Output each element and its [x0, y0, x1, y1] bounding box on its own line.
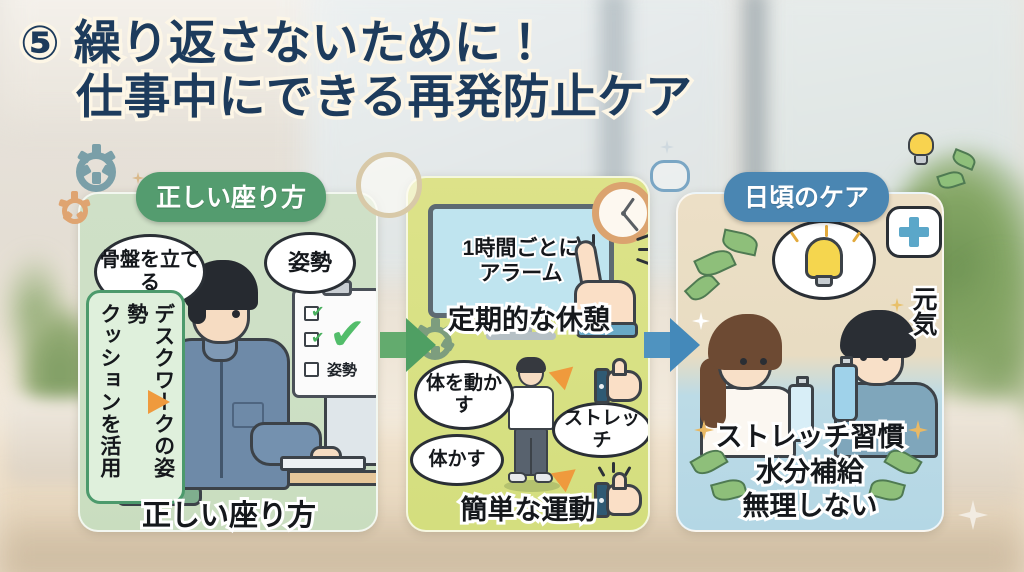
- alarm-text-line-2: アラーム: [479, 261, 562, 286]
- bottle-cap: [840, 356, 853, 366]
- speech-bubble-move-body-text: 体を動かす: [417, 373, 511, 417]
- cushion-pointer-arrow-icon: [148, 390, 170, 414]
- person-leg-split: [530, 438, 532, 476]
- infographic-canvas: ⑤ 繰り返さないために！ 仕事中にできる再発防止ケア: [0, 0, 1024, 572]
- man-eye: [882, 354, 889, 361]
- panel2-illustration: 1時間ごとに アラーム: [408, 178, 648, 530]
- lightbulb-base: [815, 275, 833, 287]
- water-bottle-icon: [832, 364, 858, 422]
- thumbs-up-icon: [596, 362, 642, 404]
- panel2-bottom-label: 簡単な運動: [414, 488, 642, 527]
- woman-eye: [760, 358, 767, 365]
- genki-vertical-text: 元気: [908, 286, 938, 336]
- gear-icon: [62, 198, 88, 224]
- title-line-1: ⑤ 繰り返さないために！: [20, 18, 780, 68]
- checklist-row: ✔: [304, 305, 324, 321]
- panel-regular-breaks[interactable]: 1時間ごとに アラーム: [406, 176, 650, 532]
- speech-bubble-pelvis-text: 骨盤を立てる: [97, 249, 203, 295]
- speech-bubble-move: 体かす: [410, 434, 504, 486]
- lightbulb-thought-bubble: [772, 220, 876, 300]
- leaf-icon: [684, 270, 720, 306]
- speech-bubble-move-text: 体かす: [428, 449, 485, 471]
- genki-text: 元気: [909, 286, 937, 336]
- speech-bubble-posture-text: 姿勢: [288, 250, 332, 275]
- man-hair: [840, 310, 916, 358]
- person-shoe-left: [508, 472, 527, 483]
- panel3-bottom-line-3: 無理しない: [672, 489, 948, 524]
- panel3-bottom-line-1: ストレッチ習慣: [672, 420, 948, 455]
- checkmark-icon: ✔: [311, 305, 324, 321]
- checklist-row: 姿勢: [304, 359, 357, 380]
- checkmark-icon: ✔: [311, 331, 324, 347]
- checklist-row: ✔: [304, 331, 324, 347]
- man-eye: [860, 354, 867, 361]
- lightbulb-icon: [908, 132, 934, 166]
- person-eye: [232, 310, 240, 318]
- medical-plus-icon: [899, 217, 929, 247]
- speech-bubble-stretch: ストレッチ: [552, 402, 650, 458]
- gear-icon: [76, 152, 116, 192]
- woman-eye: [740, 358, 747, 365]
- person-shirt: [508, 386, 554, 430]
- desk-work-callout-line-2: クッションを活用: [98, 303, 121, 479]
- title-line-2: 仕事中にできる再発防止ケア: [20, 72, 780, 122]
- flow-arrow-blue-icon: [644, 318, 702, 372]
- shirt-placket: [220, 354, 223, 478]
- lightbulb-icon: [805, 237, 843, 279]
- speech-bubble-stretch-text: ストレッチ: [555, 408, 649, 452]
- big-checkmark-icon: ✔: [329, 313, 366, 357]
- medical-plus-badge: [886, 206, 942, 258]
- panel1-bottom-label: 正しい座り方: [104, 492, 354, 534]
- keyboard: [280, 456, 366, 471]
- panel2-mid-label: 定期的な休憩: [414, 298, 644, 337]
- page-title: ⑤ 繰り返さないために！ 仕事中にできる再発防止ケア: [20, 18, 780, 122]
- person-hair: [516, 357, 546, 373]
- panel1-header: 正しい座り方: [136, 172, 326, 222]
- panel3-header: 日頃のケア: [724, 172, 889, 222]
- speech-bubble-posture: 姿勢: [264, 232, 356, 294]
- flow-arrow-green-icon: [380, 318, 438, 372]
- posture-checklist: ✔ ✔ 姿勢 ✔: [292, 288, 378, 398]
- panel3-bottom-line-2: 水分補給: [672, 455, 948, 490]
- clock-icon: [592, 182, 650, 244]
- bottle-cap: [796, 376, 809, 386]
- checkbox-empty: [304, 362, 319, 377]
- person-shoe-right: [534, 472, 553, 483]
- checklist-item-label: 姿勢: [327, 359, 357, 380]
- speech-bubble-outline-icon: [650, 160, 690, 192]
- panel3-bottom-label: ストレッチ習慣 水分補給 無理しない: [672, 420, 948, 524]
- clock-icon: [356, 152, 422, 218]
